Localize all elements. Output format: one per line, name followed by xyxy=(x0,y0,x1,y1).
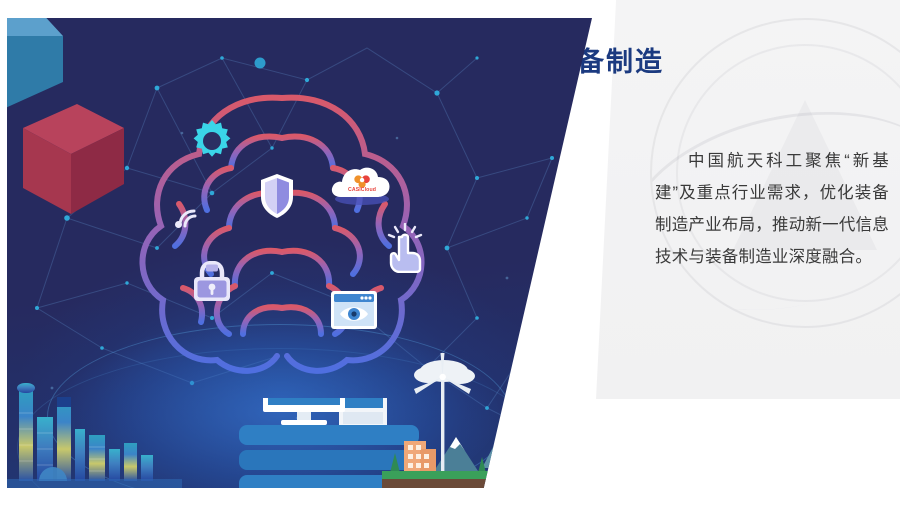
lock-icon xyxy=(192,261,232,303)
browser-eye-icon xyxy=(330,290,378,330)
city-skyline xyxy=(7,373,182,488)
page-body-text: 中国航天科工聚焦“新基建”及重点行业需求，优化装备制造产业布局，推动新一代信息技… xyxy=(655,145,889,273)
cloud-icon xyxy=(414,360,568,411)
shield-icon xyxy=(259,173,295,219)
3d-cube-red-icon xyxy=(19,104,124,222)
illustration-panel: CASICloud xyxy=(7,18,592,488)
3d-cube-blue-icon xyxy=(7,18,63,110)
slide-root: 装备制造 中国航天科工聚焦“新基建”及重点行业需求，优化装备制造产业布局，推动新… xyxy=(0,0,900,510)
wind-turbine-icon-2 xyxy=(546,391,582,473)
gear-icon xyxy=(189,118,235,164)
nature-scene xyxy=(382,353,592,488)
wifi-icon xyxy=(172,203,200,229)
cloud-logo-label: CASICloud xyxy=(329,187,395,193)
click-hand-icon xyxy=(387,223,423,273)
orange-building-icon xyxy=(404,441,436,473)
cloud-logo-icon: CASICloud xyxy=(329,163,395,207)
